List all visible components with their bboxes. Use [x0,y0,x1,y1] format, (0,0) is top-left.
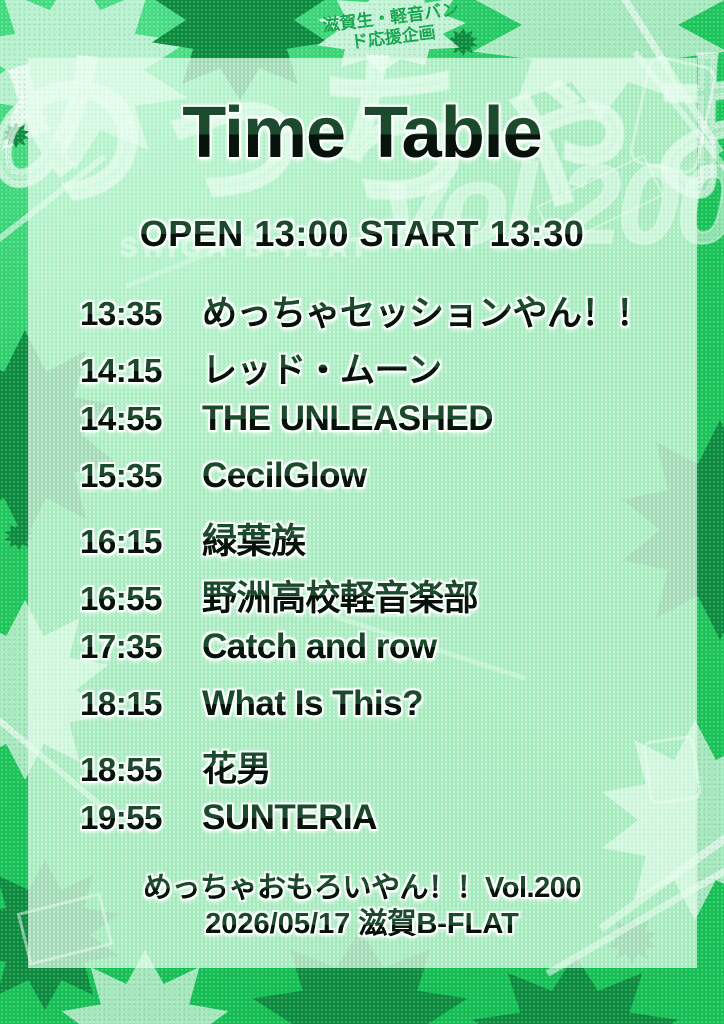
row-artist: Catch and row [202,627,437,667]
row-time: 14:55 [80,400,202,438]
row-artist: レッド・ムーン [202,342,442,393]
footer-event-row: めっちゃおもろいやん！！Vol.200 [0,872,724,905]
row-artist: 緑葉族 [202,513,306,564]
row-artist: THE UNLEASHED [202,399,493,439]
time-table-poster: めっちゃおもろいやん vol.200 SHIGA B-FLAT 滋賀生・軽音バン… [0,0,724,1024]
footer-event-name: めっちゃおもろいやん！！Vol.200 [143,872,581,905]
row-time: 19:55 [80,799,202,837]
table-row: 19:55 SUNTERIA [80,798,680,855]
table-row: 18:15 What Is This? [80,684,680,741]
footer-date-row: 2026/05/17 滋賀B-FLAT [0,905,724,941]
table-row: 15:35 CecilGlow [80,456,680,513]
table-row: 14:15 レッド・ムーン [80,342,680,399]
table-row: 18:55 花男 [80,741,680,798]
row-time: 17:35 [80,628,202,666]
row-artist: めっちゃセッションやん！！ [202,285,651,336]
poster-footer: めっちゃおもろいやん！！Vol.200 2026/05/17 滋賀B-FLAT [0,872,724,942]
open-start-text: OPEN 13:00 START 13:30 [140,213,585,255]
table-row: 13:35 めっちゃセッションやん！！ [80,285,680,342]
row-time: 18:15 [80,685,202,723]
row-time: 16:15 [80,523,202,561]
row-time: 18:55 [80,751,202,789]
table-row: 16:55 野洲高校軽音楽部 [80,570,680,627]
row-time: 16:55 [80,580,202,618]
open-start-line: OPEN 13:00 START 13:30 [0,213,724,255]
row-time: 15:35 [80,457,202,495]
row-time: 13:35 [80,295,202,333]
row-artist: What Is This? [202,684,423,724]
page-title: Time Table [0,97,724,169]
schedule-list: 13:35 めっちゃセッションやん！！ 14:15 レッド・ムーン 14:55 … [80,285,680,855]
row-time: 14:15 [80,352,202,390]
row-artist: 花男 [202,741,271,792]
table-row: 17:35 Catch and row [80,627,680,684]
table-row: 16:15 緑葉族 [80,513,680,570]
table-row: 14:55 THE UNLEASHED [80,399,680,456]
title-text: Time Table [182,97,541,169]
row-artist: CecilGlow [202,456,367,496]
footer-date-venue: 2026/05/17 滋賀B-FLAT [205,908,519,941]
row-artist: SUNTERIA [202,798,377,838]
row-artist: 野洲高校軽音楽部 [202,570,478,621]
